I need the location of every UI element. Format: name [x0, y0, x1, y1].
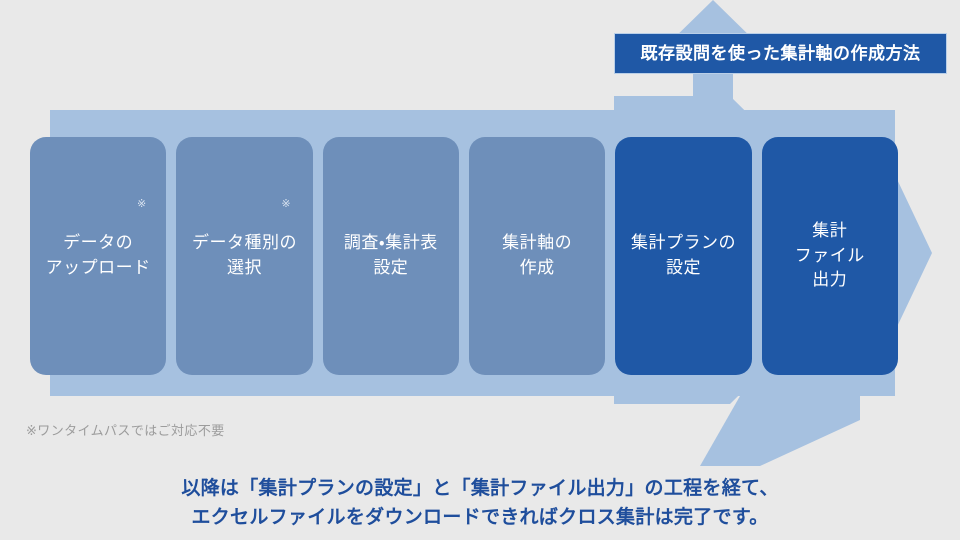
arrow-lower-tail	[700, 396, 860, 466]
step-box-axis-creation[interactable]: 集計軸の 作成	[469, 137, 605, 375]
step-note-marker-2: ※	[281, 199, 290, 210]
banner-title-text: 既存設問を使った集計軸の作成方法	[641, 45, 921, 62]
step-label-3: 調査・集計表 設定	[344, 231, 438, 280]
slide-canvas: 既存設問を使った集計軸の作成方法 ※ データの アップロード ※ データ種別の …	[0, 0, 960, 540]
step-list: ※ データの アップロード ※ データ種別の 選択 調査・集計表 設定 集計軸の…	[30, 137, 898, 375]
step-box-survey-table-settings[interactable]: 調査・集計表 設定	[323, 137, 459, 375]
step-box-file-output[interactable]: 集計 ファイル 出力	[762, 137, 898, 375]
step-label-2: データ種別の 選択	[192, 231, 297, 280]
step-label-4: 集計軸の 作成	[502, 231, 572, 280]
title-banner: 既存設問を使った集計軸の作成方法	[614, 33, 947, 74]
step-box-data-upload[interactable]: ※ データの アップロード	[30, 137, 166, 375]
step-box-data-type-select[interactable]: ※ データ種別の 選択	[176, 137, 312, 375]
step-label-1: データの アップロード	[46, 231, 151, 280]
bottom-caption: 以降は「集計プランの設定」と「集計ファイル出力」の工程を経て、 エクセルファイル…	[0, 474, 960, 533]
step-label-5: 集計プランの 設定	[631, 231, 736, 280]
step-label-6: 集計 ファイル 出力	[795, 219, 865, 293]
step-note-marker-1: ※	[137, 199, 146, 210]
footnote-text: ※ワンタイムパスではご対応不要	[26, 420, 225, 439]
step-box-plan-settings[interactable]: 集計プランの 設定	[615, 137, 751, 375]
